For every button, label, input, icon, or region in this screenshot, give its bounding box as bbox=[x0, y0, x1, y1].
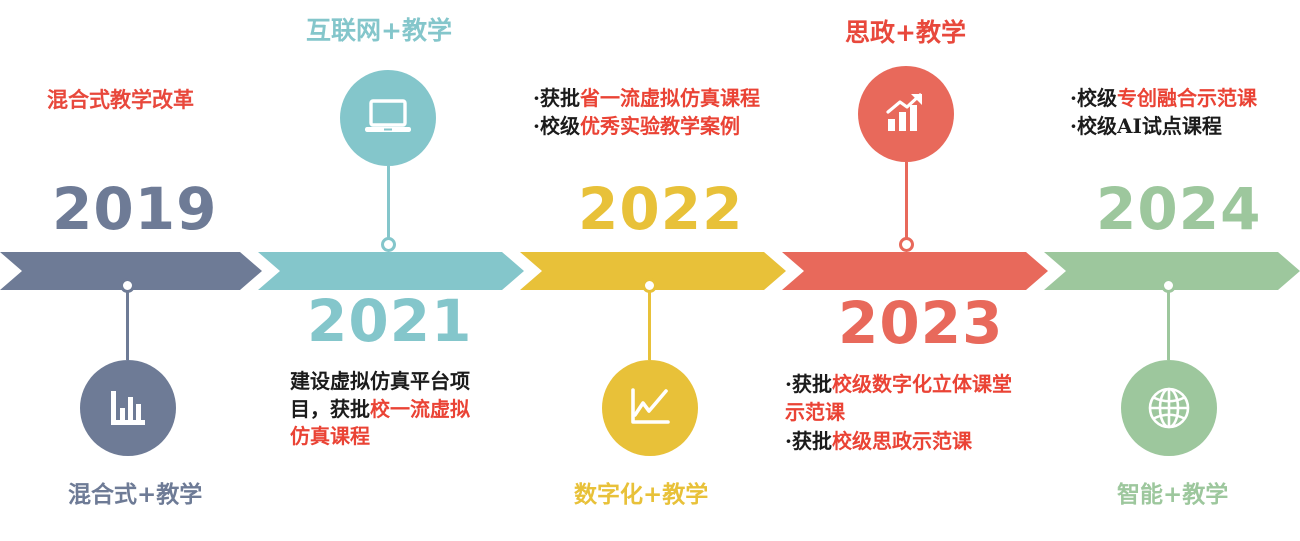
note-2024-b2: ·校级AI试点课程 bbox=[1070, 114, 1222, 138]
note-2021-line2-red: 校一流虚拟 bbox=[370, 397, 470, 421]
line-chart-icon bbox=[624, 382, 676, 434]
year-label-2023: 2023 bbox=[838, 294, 1003, 352]
ring-marker-2023 bbox=[899, 237, 914, 252]
ring-marker-2024 bbox=[1161, 278, 1176, 293]
caption-2019: 混合式+教学 bbox=[68, 484, 202, 507]
note-2022: ·获批省一流虚拟仿真课程 ·校级优秀实验教学案例 bbox=[533, 84, 823, 141]
stem-2022 bbox=[648, 288, 651, 360]
note-2024: ·校级专创融合示范课 ·校级AI试点课程 bbox=[1070, 84, 1300, 141]
note-2023: ·获批校级数字化立体课堂 示范课 ·获批校级思政示范课 bbox=[785, 370, 1075, 455]
icon-disc-2019 bbox=[80, 360, 176, 456]
stem-2023 bbox=[905, 162, 908, 246]
note-2023-b1-highlight: 校级数字化立体课堂 bbox=[832, 372, 1012, 396]
growth-chart-icon bbox=[880, 88, 932, 140]
ring-marker-2021 bbox=[381, 237, 396, 252]
icon-disc-2022 bbox=[602, 360, 698, 456]
note-2021-line3-red: 仿真课程 bbox=[290, 424, 370, 448]
note-2022-b2-highlight: 优秀实验教学案例 bbox=[580, 114, 740, 138]
heading-2019: 混合式教学改革 bbox=[47, 86, 194, 115]
globe-icon bbox=[1142, 381, 1196, 435]
ribbon-segment-2023 bbox=[782, 252, 1048, 290]
note-2023-b2-highlight: 校级思政示范课 bbox=[832, 429, 972, 453]
stem-2019 bbox=[126, 288, 129, 360]
icon-disc-2023 bbox=[858, 66, 954, 162]
note-2021: 建设虚拟仿真平台项 目，获批校一流虚拟 仿真课程 bbox=[290, 368, 505, 451]
icon-disc-2024 bbox=[1121, 360, 1217, 456]
timeline-infographic: 混合式教学改革 2019 混合式+教学 互联网+教学 2021 建设虚拟仿真平台… bbox=[0, 0, 1300, 541]
note-2021-line2-black: 目，获批 bbox=[290, 397, 370, 421]
year-label-2019: 2019 bbox=[52, 180, 217, 238]
stem-2021 bbox=[387, 166, 390, 246]
heading-2023: 思政+教学 bbox=[845, 20, 966, 45]
note-2024-b1-prefix: ·校级 bbox=[1070, 86, 1117, 110]
note-2022-b1-prefix: ·获批 bbox=[533, 86, 580, 110]
ribbon-segment-2021 bbox=[258, 252, 524, 290]
ring-marker-2022 bbox=[642, 278, 657, 293]
year-label-2022: 2022 bbox=[578, 180, 743, 238]
year-label-2021: 2021 bbox=[307, 292, 472, 350]
note-2024-b1-highlight: 专创融合示范课 bbox=[1117, 86, 1257, 110]
note-2021-line1: 建设虚拟仿真平台项 bbox=[290, 369, 470, 393]
stem-2024 bbox=[1167, 288, 1170, 360]
year-label-2024: 2024 bbox=[1096, 180, 1261, 238]
caption-2024: 智能+教学 bbox=[1117, 484, 1228, 507]
bar-chart-icon bbox=[103, 383, 153, 433]
note-2023-b2-prefix: ·获批 bbox=[785, 429, 832, 453]
note-2022-b1-highlight: 省一流虚拟仿真课程 bbox=[580, 86, 760, 110]
caption-2022: 数字化+教学 bbox=[574, 484, 708, 507]
ring-marker-2019 bbox=[120, 278, 135, 293]
heading-2021: 互联网+教学 bbox=[306, 18, 452, 43]
laptop-icon bbox=[362, 92, 414, 144]
icon-disc-2021 bbox=[340, 70, 436, 166]
note-2023-b1-highlight-cont: 示范课 bbox=[785, 400, 845, 424]
note-2023-b1-prefix: ·获批 bbox=[785, 372, 832, 396]
note-2022-b2-prefix: ·校级 bbox=[533, 114, 580, 138]
